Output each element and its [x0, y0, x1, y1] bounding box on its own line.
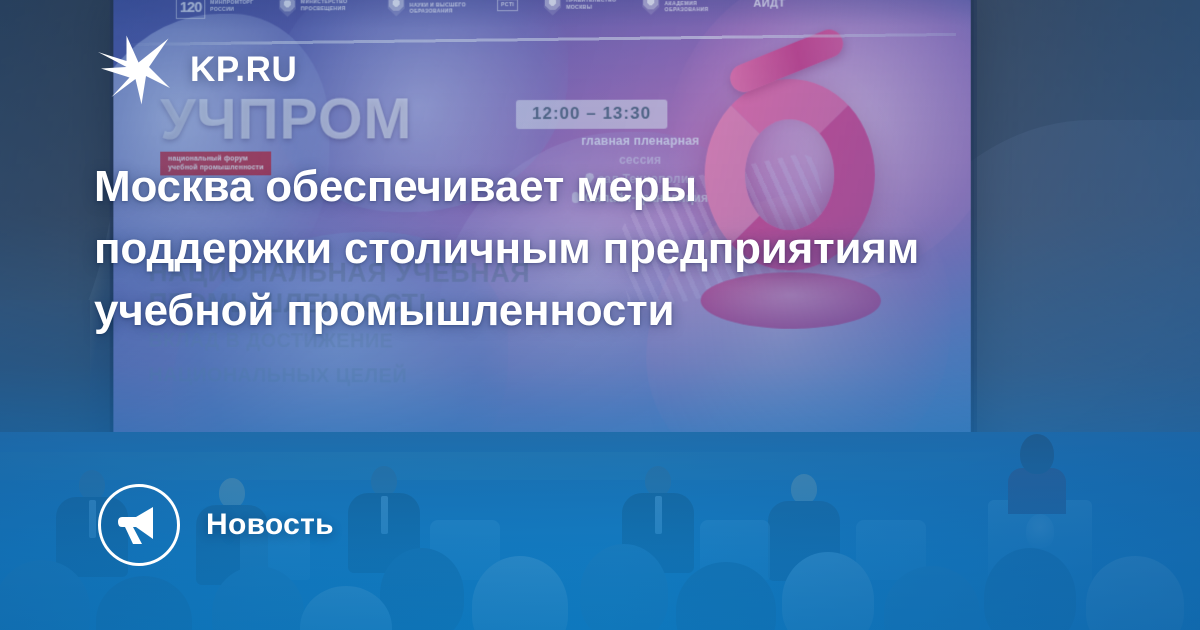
megaphone-icon	[117, 505, 161, 545]
overlay-ui: KP.RU Москва обеспечивает меры поддержки…	[0, 0, 1200, 630]
page-title: Москва обеспечивает меры поддержки столи…	[94, 156, 924, 342]
status-badge[interactable]: Новость	[98, 484, 334, 566]
brand-name: KP.RU	[190, 50, 297, 90]
swallow-bird-icon	[96, 34, 172, 106]
badge-icon-circle	[98, 484, 180, 566]
badge-label: Новость	[206, 508, 334, 542]
news-share-card: 120 Минпромторг России Министерство прос…	[0, 0, 1200, 630]
brand-lockup[interactable]: KP.RU	[96, 34, 297, 106]
